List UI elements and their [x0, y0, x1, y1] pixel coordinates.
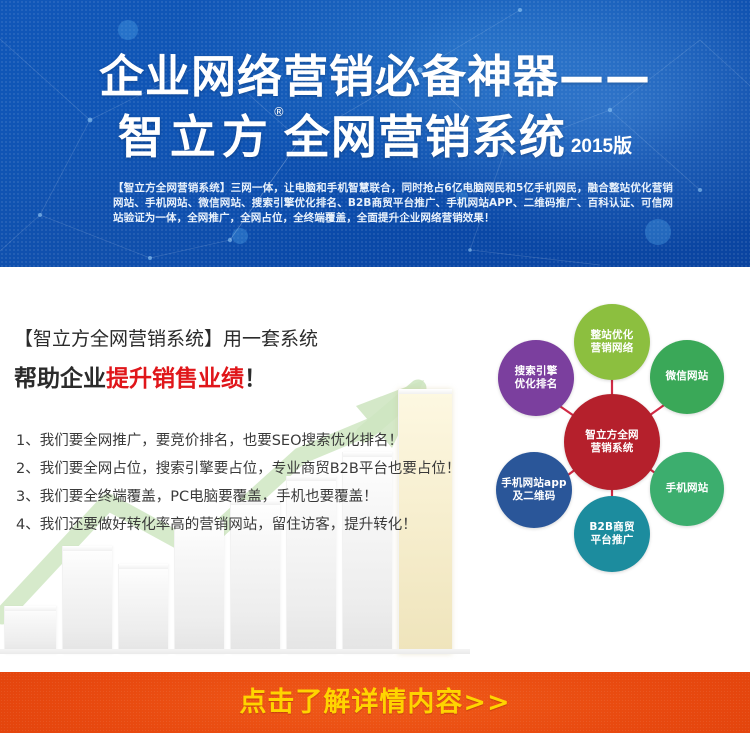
hero-description: 【智立方全网营销系统】三网一体，让电脑和手机智慧联合，同时抢占6亿电脑网民和5亿…: [113, 181, 673, 227]
lead-copy: 【智立方全网营销系统】用一套系统 帮助企业提升销售业绩！: [14, 325, 484, 395]
chart-bar: [4, 606, 56, 654]
diagram-node-wechat-site[interactable]: 微信网站: [650, 340, 724, 414]
cta-label[interactable]: 点击了解详情内容>>: [239, 688, 510, 718]
node-center-line1: 智立方全网: [585, 429, 639, 443]
chart-bar: [62, 546, 112, 654]
list-item: 2、我们要全网占位，搜索引擎要占位，专业商贸B2B平台也要占位！: [16, 455, 486, 483]
diagram-node-mobile-site[interactable]: 手机网站: [650, 452, 724, 526]
lead-line-1: 【智立方全网营销系统】用一套系统: [14, 325, 484, 353]
hero-logo-row: 智立方 ® 全网营销系统 2015版: [0, 112, 750, 162]
node-label-line1: 搜索引擎: [515, 365, 558, 379]
lead-line-2-highlight: 提升销售业绩: [106, 366, 244, 392]
node-label-line2: 及二维码: [501, 490, 567, 504]
diagram-node-app-qrcode[interactable]: 手机网站app 及二维码: [496, 452, 572, 528]
list-item: 3、我们要全终端覆盖，PC电脑要覆盖，手机也要覆盖！: [16, 483, 486, 511]
brand-subtitle: 全网营销系统: [284, 112, 566, 162]
promo-page: 企业网络营销必备神器—— 智立方 ® 全网营销系统 2015版 【智立方全网营销…: [0, 0, 750, 733]
node-label-line1: B2B商贸: [589, 521, 634, 535]
node-label-line1: 微信网站: [666, 370, 709, 384]
node-label-line2: 平台推广: [589, 534, 634, 548]
service-hub-diagram: 智立方全网 营销系统 整站优化 营销网络 微信网站 手机网站: [478, 302, 746, 582]
benefit-list: 1、我们要全网推广，要竞价排名，也要SEO搜索优化排名！ 2、我们要全网占位，搜…: [16, 427, 486, 539]
lead-line-2-prefix: 帮助企业: [14, 366, 106, 392]
chart-bar: [174, 520, 224, 654]
list-item: 4、我们还要做好转化率高的营销网站，留住访客，提升转化！: [16, 511, 486, 539]
node-label-line2: 营销网络: [591, 342, 634, 356]
diagram-node-seo-ranking[interactable]: 搜索引擎 优化排名: [498, 340, 574, 416]
cta-bar[interactable]: 点击了解详情内容>>: [0, 672, 750, 733]
node-label-line1: 手机网站app: [501, 477, 567, 491]
main-content: 【智立方全网营销系统】用一套系统 帮助企业提升销售业绩！ 1、我们要全网推广，要…: [0, 267, 750, 672]
chart-baseline: [0, 649, 470, 654]
registered-trademark-icon: ®: [273, 106, 285, 118]
brand-logo: 智立方 ®: [118, 112, 274, 162]
hero-banner: 企业网络营销必备神器—— 智立方 ® 全网营销系统 2015版 【智立方全网营销…: [0, 0, 750, 267]
node-label-line1: 整站优化: [591, 329, 634, 343]
diagram-node-b2b-platform[interactable]: B2B商贸 平台推广: [574, 496, 650, 572]
diagram-node-whole-site-optimization[interactable]: 整站优化 营销网络: [574, 304, 650, 380]
lead-line-2: 帮助企业提升销售业绩！: [14, 363, 484, 395]
node-center-line2: 营销系统: [585, 442, 639, 456]
node-label-line1: 手机网站: [666, 482, 709, 496]
version-badge: 2015版: [571, 136, 632, 158]
hero-title: 企业网络营销必备神器——: [0, 52, 750, 102]
chart-bar: [118, 564, 168, 654]
lead-line-2-suffix: ！: [244, 366, 267, 392]
node-label-line2: 优化排名: [515, 378, 558, 392]
list-item: 1、我们要全网推广，要竞价排名，也要SEO搜索优化排名！: [16, 427, 486, 455]
brand-logo-text: 智立方: [118, 110, 274, 164]
diagram-node-center[interactable]: 智立方全网 营销系统: [564, 394, 660, 490]
